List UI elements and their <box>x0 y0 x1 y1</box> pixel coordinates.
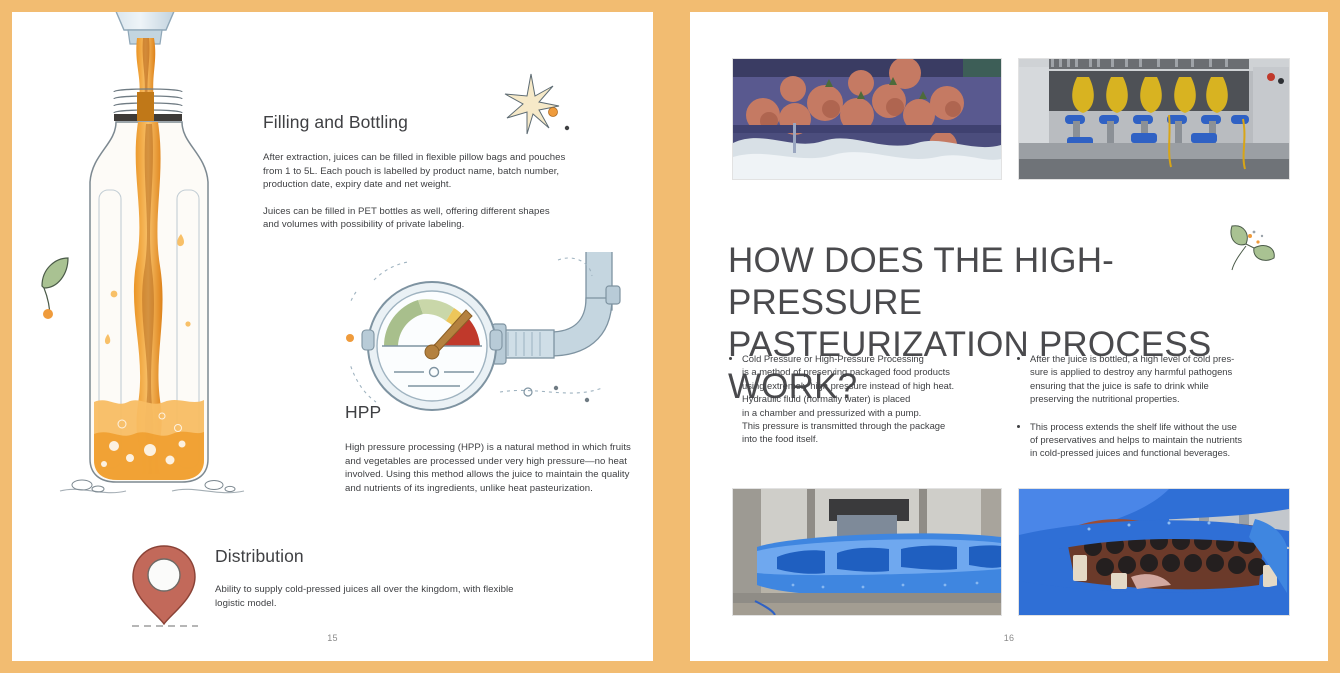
bullet-line: This pressure is transmitted through the… <box>742 419 1002 432</box>
bullet-line: in cold-pressed juices and functional be… <box>1030 446 1290 459</box>
list-item: Cold Pressure or High-Pressure Processin… <box>727 352 1002 446</box>
page-right: HOW DOES THE HIGH-PRESSURE PASTEURIZATIO… <box>690 12 1328 661</box>
bullet-line: into the food itself. <box>742 432 1002 445</box>
list-item: After the juice is bottled, a high level… <box>1015 352 1290 406</box>
bullet-line: This process extends the shelf life with… <box>1030 420 1290 433</box>
bullets-left-ul: Cold Pressure or High-Pressure Processin… <box>727 352 1002 446</box>
hpp-section: HPP High pressure processing (HPP) is a … <box>345 402 635 495</box>
list-item: This process extends the shelf life with… <box>1015 420 1290 460</box>
bullet-line: ensuring that the juice is safe to drink… <box>1030 379 1290 392</box>
bullets-right-ul: After the juice is bottled, a high level… <box>1015 352 1290 460</box>
photo-filler <box>1018 58 1290 180</box>
page-number-right: 16 <box>690 633 1328 643</box>
hpp-paragraph: High pressure processing (HPP) is a natu… <box>345 441 635 495</box>
photo-hpp-loaded <box>1018 488 1290 616</box>
bullet-line: sure is applied to destroy any harmful p… <box>1030 365 1290 378</box>
brochure-spread: Filling and Bottling After extraction, j… <box>0 0 1340 673</box>
hpp-heading: HPP <box>345 402 635 423</box>
photo-hpp-vessel <box>732 488 1002 616</box>
leaf-sprig-decoration <box>1220 220 1280 274</box>
bullet-line: of preservatives and helps to maintain t… <box>1030 433 1290 446</box>
leaf-sprig-decoration <box>36 254 80 320</box>
distribution-section: Distribution Ability to supply cold-pres… <box>215 546 515 610</box>
bullet-line: Hydraulic fluid (normally water) is plac… <box>742 392 1002 405</box>
bullet-list-right: After the juice is bottled, a high level… <box>1015 352 1290 460</box>
bullet-line: is a method of preserving packaged food … <box>742 365 1002 378</box>
bullet-line: in a chamber and pressurized with a pump… <box>742 406 1002 419</box>
distribution-heading: Distribution <box>215 546 515 567</box>
page-left: Filling and Bottling After extraction, j… <box>12 12 653 661</box>
page-title-line-1: HOW DOES THE HIGH-PRESSURE <box>728 240 1273 324</box>
bullet-list-left: Cold Pressure or High-Pressure Processin… <box>727 352 1002 446</box>
filling-paragraph-1: After extraction, juices can be filled i… <box>263 151 568 192</box>
page-number-left: 15 <box>12 633 653 643</box>
filling-and-bottling-section: Filling and Bottling After extraction, j… <box>263 112 568 245</box>
bullet-line: After the juice is bottled, a high level… <box>1030 352 1290 365</box>
photo-pomegranates <box>732 58 1002 180</box>
map-pin-icon <box>124 540 204 632</box>
distribution-paragraph: Ability to supply cold-pressed juices al… <box>215 583 515 610</box>
filling-heading: Filling and Bottling <box>263 112 568 133</box>
bullet-line: using extremely high pressure instead of… <box>742 379 1002 392</box>
filling-paragraph-2: Juices can be filled in PET bottles as w… <box>263 205 568 232</box>
bullet-line: Cold Pressure or High-Pressure Processin… <box>742 352 1002 365</box>
bullet-line: preserving the nutritional properties. <box>1030 392 1290 405</box>
